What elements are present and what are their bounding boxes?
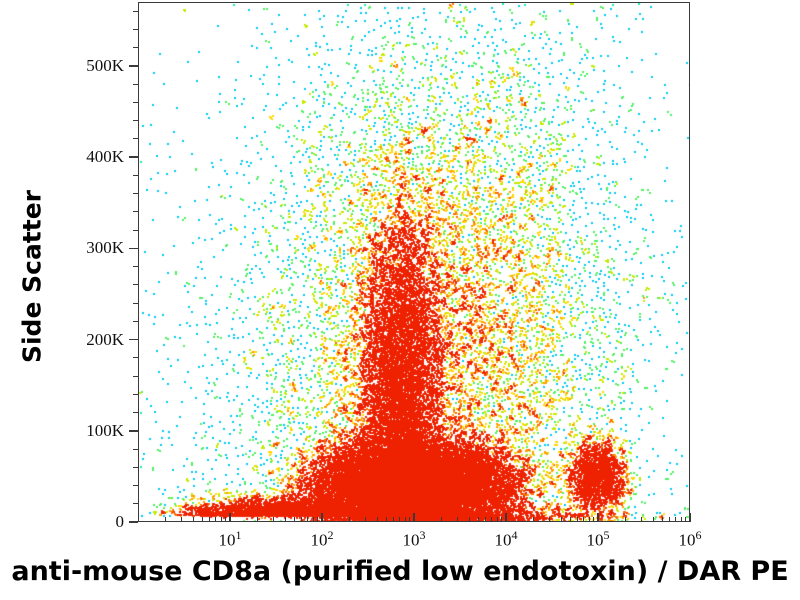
y-major-tick (129, 430, 138, 432)
y-minor-tick (133, 266, 138, 267)
x-major-tick (413, 513, 415, 522)
x-minor-tick (641, 517, 642, 522)
x-tick-label: 102 (311, 528, 334, 551)
x-minor-tick (313, 517, 314, 522)
y-tick-label: 500K (66, 56, 124, 76)
x-minor-tick (193, 517, 194, 522)
y-minor-tick (133, 84, 138, 85)
x-minor-tick (681, 517, 682, 522)
y-major-tick (129, 65, 138, 67)
x-minor-tick (669, 517, 670, 522)
x-minor-tick (457, 517, 458, 522)
y-minor-tick (133, 467, 138, 468)
x-minor-tick (533, 517, 534, 522)
y-minor-tick (133, 120, 138, 121)
y-tick-label: 0 (66, 512, 124, 532)
x-minor-tick (399, 517, 400, 522)
y-tick-label: 100K (66, 421, 124, 441)
x-minor-tick (625, 517, 626, 522)
x-minor-tick (497, 517, 498, 522)
y-minor-tick (133, 376, 138, 377)
y-minor-tick (133, 412, 138, 413)
y-major-tick (129, 248, 138, 250)
y-axis-title: Side Scatter (18, 157, 47, 397)
y-minor-tick (133, 230, 138, 231)
x-minor-tick (675, 517, 676, 522)
x-minor-tick (593, 517, 594, 522)
x-major-tick (689, 513, 691, 522)
y-tick-label: 400K (66, 147, 124, 167)
y-minor-tick (133, 449, 138, 450)
x-minor-tick (570, 517, 571, 522)
x-major-tick (321, 513, 323, 522)
x-minor-tick (386, 517, 387, 522)
x-minor-tick (405, 517, 406, 522)
x-minor-tick (501, 517, 502, 522)
x-minor-tick (469, 517, 470, 522)
y-minor-tick (133, 485, 138, 486)
x-minor-tick (301, 517, 302, 522)
x-major-tick (505, 513, 507, 522)
x-axis-title: anti-mouse CD8a (purified low endotoxin)… (0, 556, 800, 587)
x-minor-tick (478, 517, 479, 522)
x-minor-tick (377, 517, 378, 522)
y-minor-tick (133, 47, 138, 48)
x-tick-label: 101 (219, 528, 242, 551)
y-minor-tick (133, 138, 138, 139)
x-minor-tick (202, 517, 203, 522)
y-minor-tick (133, 503, 138, 504)
x-minor-tick (181, 517, 182, 522)
y-major-tick (129, 156, 138, 158)
y-major-tick (129, 339, 138, 341)
y-minor-tick (133, 303, 138, 304)
x-minor-tick (653, 517, 654, 522)
x-minor-tick (589, 517, 590, 522)
x-tick-label: 104 (495, 528, 518, 551)
x-minor-tick (485, 517, 486, 522)
x-minor-tick (662, 517, 663, 522)
y-major-tick (129, 521, 138, 523)
x-minor-tick (285, 517, 286, 522)
x-minor-tick (441, 517, 442, 522)
y-tick-label: 300K (66, 238, 124, 258)
x-major-tick (229, 513, 231, 522)
x-minor-tick (349, 517, 350, 522)
x-major-tick (597, 513, 599, 522)
y-minor-tick (133, 211, 138, 212)
y-minor-tick (133, 102, 138, 103)
y-minor-tick (133, 321, 138, 322)
x-minor-tick (273, 517, 274, 522)
x-minor-tick (365, 517, 366, 522)
x-minor-tick (209, 517, 210, 522)
y-minor-tick (133, 11, 138, 12)
y-tick-label: 200K (66, 330, 124, 350)
x-minor-tick (317, 517, 318, 522)
x-minor-tick (307, 517, 308, 522)
y-minor-tick (133, 29, 138, 30)
x-tick-label: 105 (587, 528, 610, 551)
y-minor-tick (133, 193, 138, 194)
y-minor-tick (133, 394, 138, 395)
y-minor-tick (133, 357, 138, 358)
plot-area (138, 2, 690, 522)
x-minor-tick (685, 517, 686, 522)
x-minor-tick (561, 517, 562, 522)
x-minor-tick (257, 517, 258, 522)
x-minor-tick (294, 517, 295, 522)
x-minor-tick (215, 517, 216, 522)
x-minor-tick (221, 517, 222, 522)
x-minor-tick (577, 517, 578, 522)
x-minor-tick (409, 517, 410, 522)
x-minor-tick (583, 517, 584, 522)
x-tick-label: 106 (679, 528, 702, 551)
x-minor-tick (393, 517, 394, 522)
x-minor-tick (491, 517, 492, 522)
x-tick-label: 103 (403, 528, 426, 551)
x-minor-tick (165, 517, 166, 522)
density-scatter-canvas (139, 3, 690, 522)
flow-cytometry-plot-page: 101102103104105106 500K400K300K200K100K0… (0, 0, 800, 600)
y-minor-tick (133, 284, 138, 285)
y-minor-tick (133, 175, 138, 176)
x-minor-tick (225, 517, 226, 522)
x-minor-tick (549, 517, 550, 522)
